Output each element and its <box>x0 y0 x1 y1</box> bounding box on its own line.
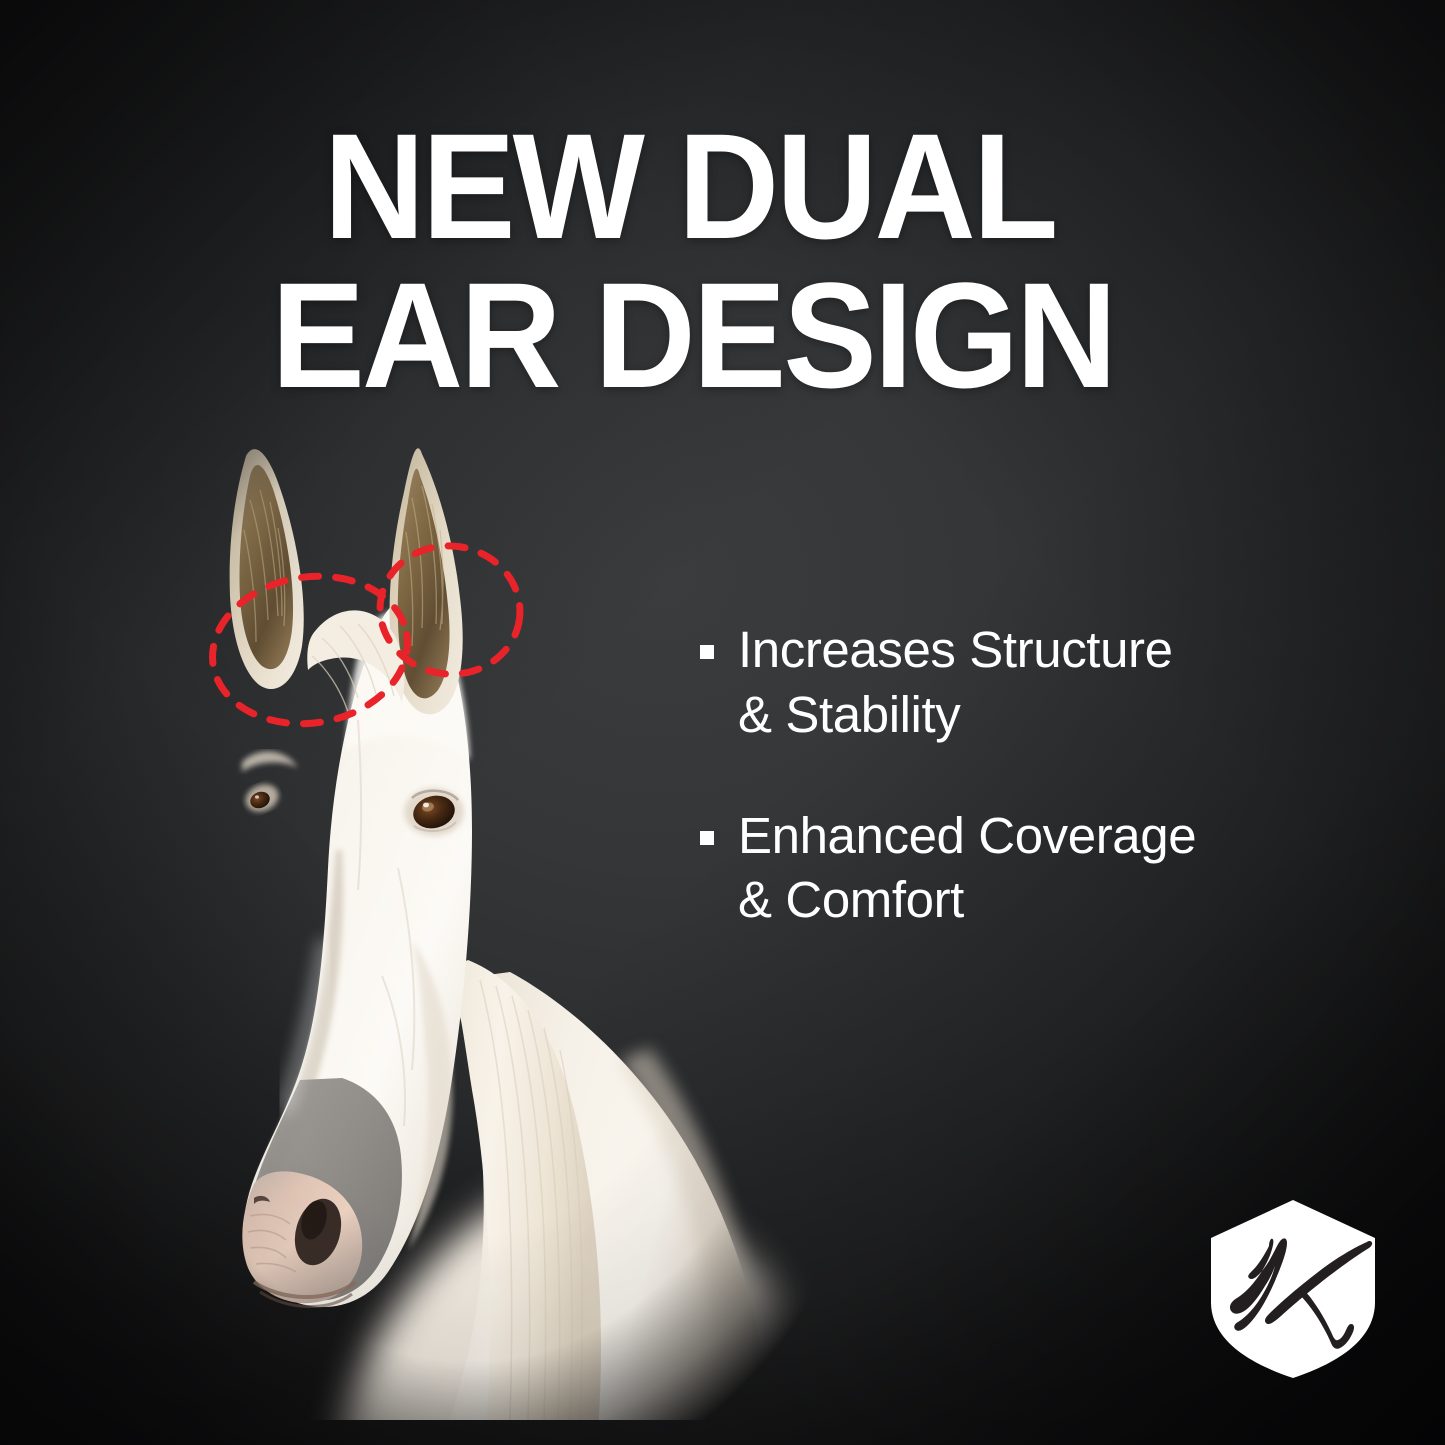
horse-eye-left <box>241 780 282 817</box>
promo-image-canvas: NEW DUAL EAR DESIGN <box>0 0 1445 1445</box>
bullet-text: Enhanced Coverage & Comfort <box>738 804 1196 934</box>
horse-ear-left <box>230 449 304 689</box>
headline-line-1: NEW DUAL <box>262 112 1141 261</box>
feature-bullet-list: Increases Structure & Stability Enhanced… <box>700 618 1360 989</box>
square-bullet-icon <box>700 645 714 659</box>
list-item: Enhanced Coverage & Comfort <box>700 804 1360 934</box>
brand-logo <box>1207 1198 1379 1380</box>
shield-logo-icon <box>1207 1198 1379 1380</box>
shield-shape <box>1211 1200 1375 1378</box>
headline: NEW DUAL EAR DESIGN <box>262 112 1141 409</box>
square-bullet-icon <box>700 831 714 845</box>
horse-eye-right <box>404 788 464 836</box>
headline-line-2: EAR DESIGN <box>262 261 1141 410</box>
bullet-text: Increases Structure & Stability <box>738 618 1173 748</box>
list-item: Increases Structure & Stability <box>700 618 1360 748</box>
